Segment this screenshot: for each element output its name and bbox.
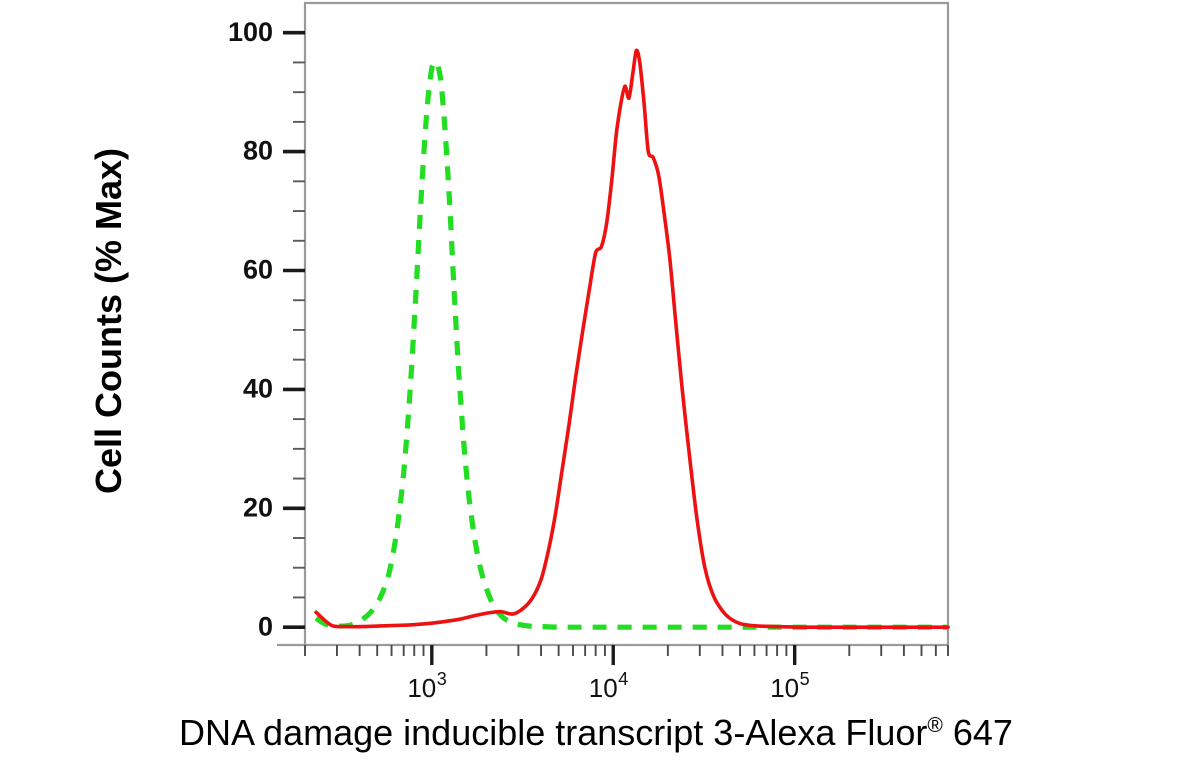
x-tick-label-exponent: 5 bbox=[800, 669, 810, 689]
y-axis-title: Cell Counts (% Max) bbox=[88, 111, 130, 531]
y-tick-label: 0 bbox=[258, 611, 273, 641]
y-tick-label: 40 bbox=[243, 374, 273, 404]
flow-cytometry-figure: 020406080100103104105 Cell Counts (% Max… bbox=[0, 0, 1192, 774]
x-tick-label-exponent: 3 bbox=[437, 669, 447, 689]
histogram-curve-stained bbox=[316, 50, 948, 627]
y-tick-label: 80 bbox=[243, 136, 273, 166]
histogram-plot: 020406080100103104105 bbox=[0, 0, 1192, 774]
x-tick-label: 10 bbox=[589, 673, 618, 703]
y-tick-label: 20 bbox=[243, 492, 273, 522]
registered-trademark-icon: ® bbox=[927, 714, 942, 737]
histogram-curve-isotype bbox=[316, 62, 948, 627]
y-tick-label: 60 bbox=[243, 255, 273, 285]
plot-frame bbox=[305, 3, 948, 645]
x-tick-label: 10 bbox=[770, 673, 799, 703]
x-axis-title-tail: 647 bbox=[943, 712, 1013, 753]
x-axis-title-main: DNA damage inducible transcript 3-Alexa … bbox=[179, 712, 927, 753]
x-axis-title: DNA damage inducible transcript 3-Alexa … bbox=[0, 712, 1192, 754]
x-tick-label: 10 bbox=[407, 673, 436, 703]
x-tick-label-exponent: 4 bbox=[618, 669, 628, 689]
y-tick-label: 100 bbox=[228, 17, 273, 47]
